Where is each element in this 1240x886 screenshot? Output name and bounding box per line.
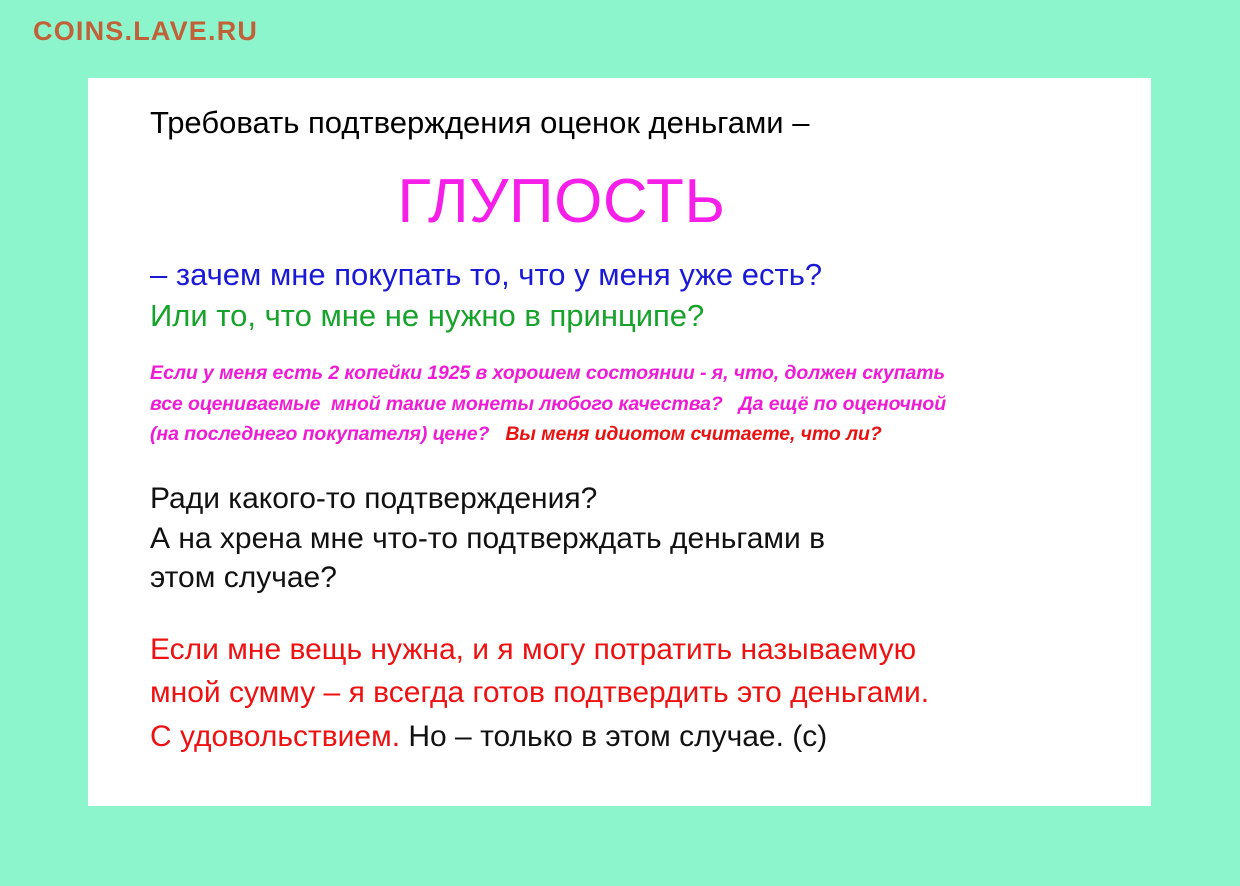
black-paragraph: Ради какого-то подтверждения? А на хрена… [150,479,1133,598]
magenta-paragraph: Если у меня есть 2 копейки 1925 в хороше… [150,358,1133,449]
red-line-1: Если мне вещь нужна, и я могу потратить … [150,628,1133,672]
red-line-2: мной сумму – я всегда готов подтвердить … [150,671,1133,715]
magenta-line-3-red-part: Вы меня идиотом считаете, что ли? [505,423,881,445]
black-line-1: Ради какого-то подтверждения? [150,479,1133,519]
slide-page: { "watermark": { "text": "COINS.LAVE.RU"… [0,0,1240,886]
magenta-line-3: (на последнего покупателя) цене? Вы меня… [150,419,1133,449]
magenta-line-1: Если у меня есть 2 копейки 1925 в хороше… [150,358,1133,388]
magenta-line-3-magenta-part: (на последнего покупателя) цене? [150,423,505,445]
magenta-line-2: все оцениваемые мной такие монеты любого… [150,389,1133,419]
black-line-2: А на хрена мне что-то подтверждать деньг… [150,519,1133,559]
red-line-3: С удовольствием. Но – только в этом случ… [150,715,1133,759]
black-line-3: этом случае? [150,558,1133,598]
headline-text: Требовать подтверждения оценок деньгами … [150,104,1133,143]
slide-content: Требовать подтверждения оценок деньгами … [150,104,1133,796]
question-green: Или то, что мне не нужно в принципе? [150,295,1133,336]
question-blue: – зачем мне покупать то, что у меня уже … [150,254,1133,295]
site-watermark: COINS.LAVE.RU [33,16,258,47]
slide-card: Требовать подтверждения оценок деньгами … [88,78,1151,806]
red-paragraph: Если мне вещь нужна, и я могу потратить … [150,628,1133,759]
emphasis-word: ГЛУПОСТЬ [150,165,1133,238]
red-line-3-red-part: С удовольствием. [150,720,408,753]
red-line-3-black-part: Но – только в этом случае. (с) [408,720,827,753]
